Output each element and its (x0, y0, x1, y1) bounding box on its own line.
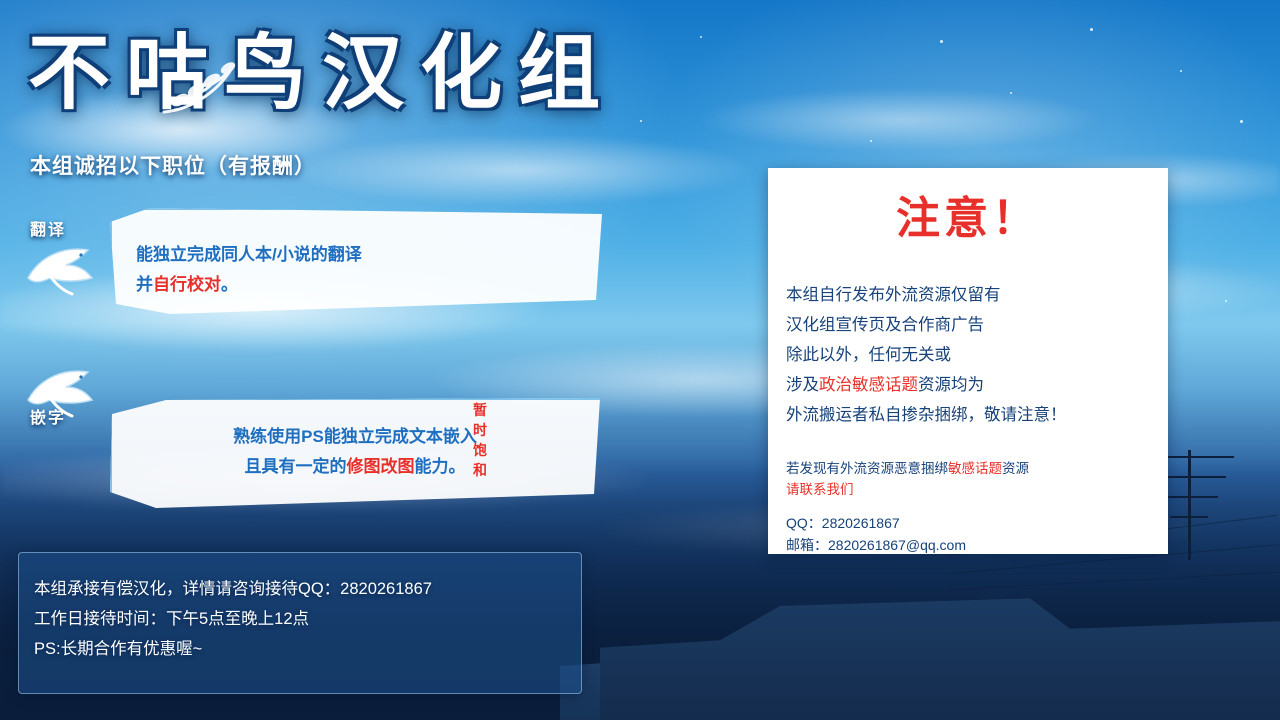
role-text-typesetter: 熟练使用PS能独立完成文本嵌入 且具有一定的修图改图能力。 (130, 422, 580, 482)
footer-line-3: PS:长期合作有优惠喔~ (34, 634, 432, 664)
highlight-red: 敏感话题 (948, 461, 1002, 476)
status-badge-saturated: 暂时饱和 (470, 400, 490, 480)
role-label-translator: 翻译 (30, 216, 66, 240)
contact-email: 邮箱：2820261867@qq.com (786, 534, 1152, 556)
contact-us-label: 请联系我们 (786, 482, 854, 497)
notice-title: 注意！ (768, 182, 1168, 246)
notice-body: 本组自行发布外流资源仅留有 汉化组宣传页及合作商广告 除此以外，任何无关或 涉及… (786, 280, 1152, 430)
footer-line-1: 本组承接有偿汉化，详情请咨询接待QQ：2820261867 (34, 574, 432, 604)
page-title: 不咕鸟汉化组 (28, 18, 758, 130)
contact-qq: QQ：2820261867 (786, 512, 1152, 534)
footer-line-2: 工作日接待时间：下午5点至晚上12点 (34, 604, 432, 634)
dove-icon (22, 360, 100, 420)
subtitle: 本组诚招以下职位（有报酬） (30, 150, 316, 180)
highlight-red: 修图改图 (347, 457, 415, 476)
poster: 不咕鸟汉化组 本组诚招以下职位（有报酬） 翻译 能独立完成同人本/小说的翻译 并… (0, 0, 1280, 720)
notice-contact: QQ：2820261867 邮箱：2820261867@qq.com (786, 512, 1152, 556)
highlight-red: 政治敏感话题 (819, 376, 918, 394)
notice-panel: 注意！ 本组自行发布外流资源仅留有 汉化组宣传页及合作商广告 除此以外，任何无关… (768, 168, 1168, 554)
laurel-icon (154, 42, 304, 126)
role-text-translator: 能独立完成同人本/小说的翻译 并自行校对。 (136, 240, 576, 300)
dove-icon (22, 238, 100, 298)
title-block: 不咕鸟汉化组 (28, 18, 758, 138)
notice-subnote: 若发现有外流资源恶意捆绑敏感话题资源 请联系我们 (786, 458, 1152, 500)
footer-text: 本组承接有偿汉化，详情请咨询接待QQ：2820261867 工作日接待时间：下午… (34, 574, 432, 664)
highlight-red: 自行校对 (153, 275, 221, 294)
